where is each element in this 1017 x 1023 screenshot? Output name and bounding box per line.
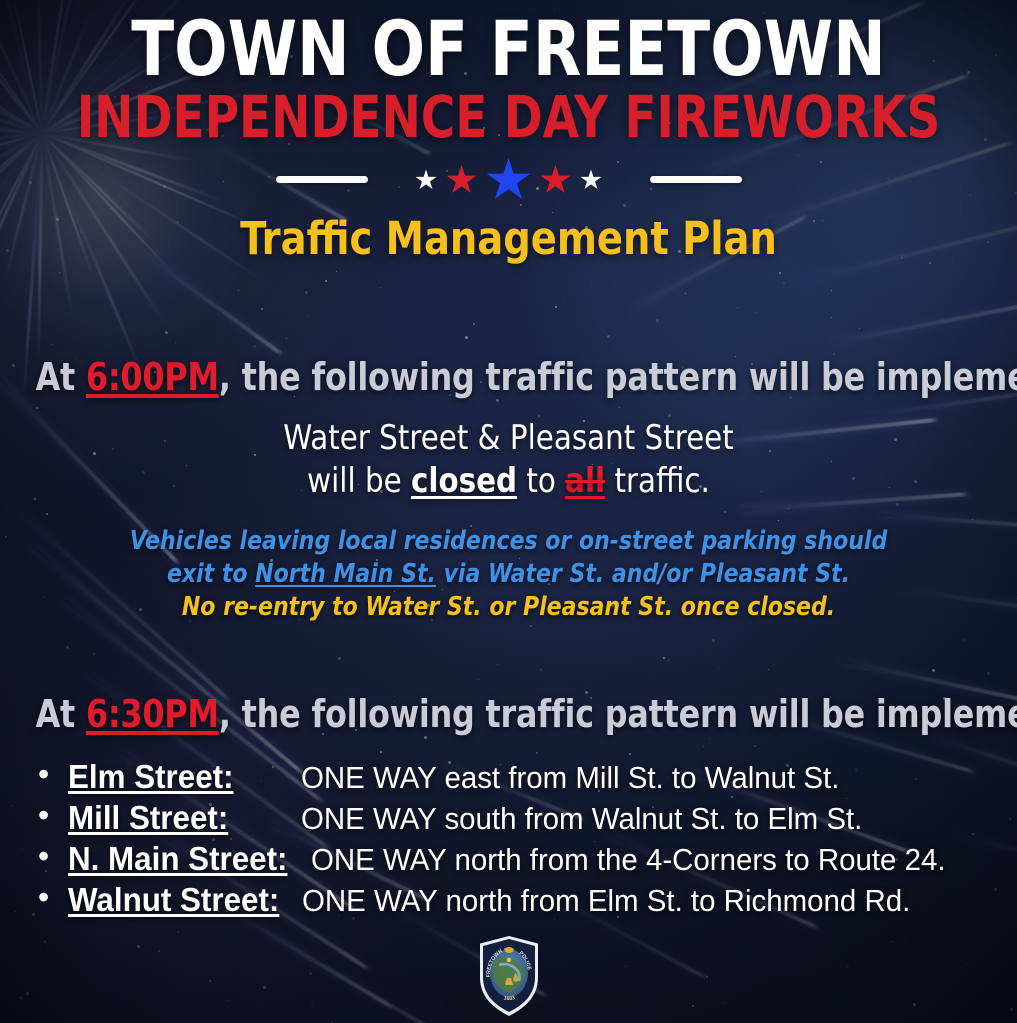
bullet-icon: •: [38, 881, 68, 913]
star-icon-red-left: [447, 165, 477, 195]
star-divider: [0, 160, 1017, 200]
note-link-north-main: North Main St.: [255, 559, 436, 589]
bullet-icon: •: [38, 758, 68, 790]
street-direction-text: ONE WAY east from Mill St. to Walnut St.: [301, 760, 839, 796]
residence-exit-note: Vehicles leaving local residences or on-…: [20, 525, 996, 624]
star-icon-white-left: [416, 169, 437, 190]
street-direction-text: ONE WAY south from Walnut St. to Elm St.: [301, 801, 862, 837]
street-direction-text: ONE WAY north from Elm St. to Richmond R…: [302, 883, 910, 919]
page-subtitle: INDEPENDENCE DAY FIREWORKS: [51, 88, 966, 146]
one-way-street-list: •Elm Street:ONE WAY east from Mill St. t…: [0, 758, 1017, 919]
section-two-headline-prefix: At: [36, 692, 86, 736]
bullet-icon: •: [38, 799, 68, 831]
street-name-label: N. Main Street:: [68, 840, 287, 878]
closure-keyword-all: all: [565, 461, 605, 501]
section-two-headline: At 6:30PM, the following traffic pattern…: [36, 692, 982, 736]
closure-keyword-closed: closed: [411, 461, 517, 501]
closure-statement: Water Street & Pleasant Street will be c…: [20, 417, 996, 503]
closure-line-2: will be closed to all traffic.: [20, 460, 996, 503]
list-item: •Walnut Street:ONE WAY north from Elm St…: [0, 881, 1017, 919]
star-icon-blue-center: [487, 158, 531, 202]
list-item: •N. Main Street:ONE WAY north from the 4…: [0, 840, 1017, 878]
note-line-1: Vehicles leaving local residences or on-…: [20, 525, 996, 558]
section-one-headline-suffix: , the following traffic pattern will be …: [219, 355, 1017, 399]
star-icon-white-right: [581, 169, 602, 190]
section-one-time: 6:00PM: [86, 355, 219, 399]
street-direction-text: ONE WAY north from the 4-Corners to Rout…: [311, 842, 946, 878]
closure-suffix: traffic.: [605, 461, 710, 501]
divider-bar-left: [276, 176, 368, 183]
note-line-2: exit to North Main St. via Water St. and…: [20, 558, 996, 591]
poster-content: TOWN OF FREETOWN INDEPENDENCE DAY FIREWO…: [0, 0, 1017, 1023]
poster-canvas: TOWN OF FREETOWN INDEPENDENCE DAY FIREWO…: [0, 0, 1017, 1023]
street-name-label: Elm Street:: [68, 758, 278, 796]
street-name-label: Walnut Street:: [68, 881, 279, 919]
closure-line-1: Water Street & Pleasant Street: [20, 417, 996, 460]
section-two-time: 6:30PM: [86, 692, 219, 736]
section-two-headline-suffix: , the following traffic pattern will be …: [219, 692, 1017, 736]
bullet-icon: •: [38, 840, 68, 872]
closure-prefix: will be: [307, 461, 411, 501]
star-icon-red-right: [541, 165, 571, 195]
note-line-2-suffix: via Water St. and/or Pleasant St.: [436, 559, 850, 589]
divider-bar-right: [650, 176, 742, 183]
note-line-2-prefix: exit to: [167, 559, 255, 589]
note-line-3-no-reentry: No re-entry to Water St. or Pleasant St.…: [20, 591, 996, 624]
list-item: •Mill Street:ONE WAY south from Walnut S…: [0, 799, 1017, 837]
plan-heading: Traffic Management Plan: [25, 212, 991, 265]
closure-middle: to: [517, 461, 565, 501]
list-item: •Elm Street:ONE WAY east from Mill St. t…: [0, 758, 1017, 796]
page-title: TOWN OF FREETOWN: [41, 13, 977, 86]
section-one-headline: At 6:00PM, the following traffic pattern…: [36, 355, 982, 399]
street-name-label: Mill Street:: [68, 799, 278, 837]
section-one-headline-prefix: At: [36, 355, 86, 399]
